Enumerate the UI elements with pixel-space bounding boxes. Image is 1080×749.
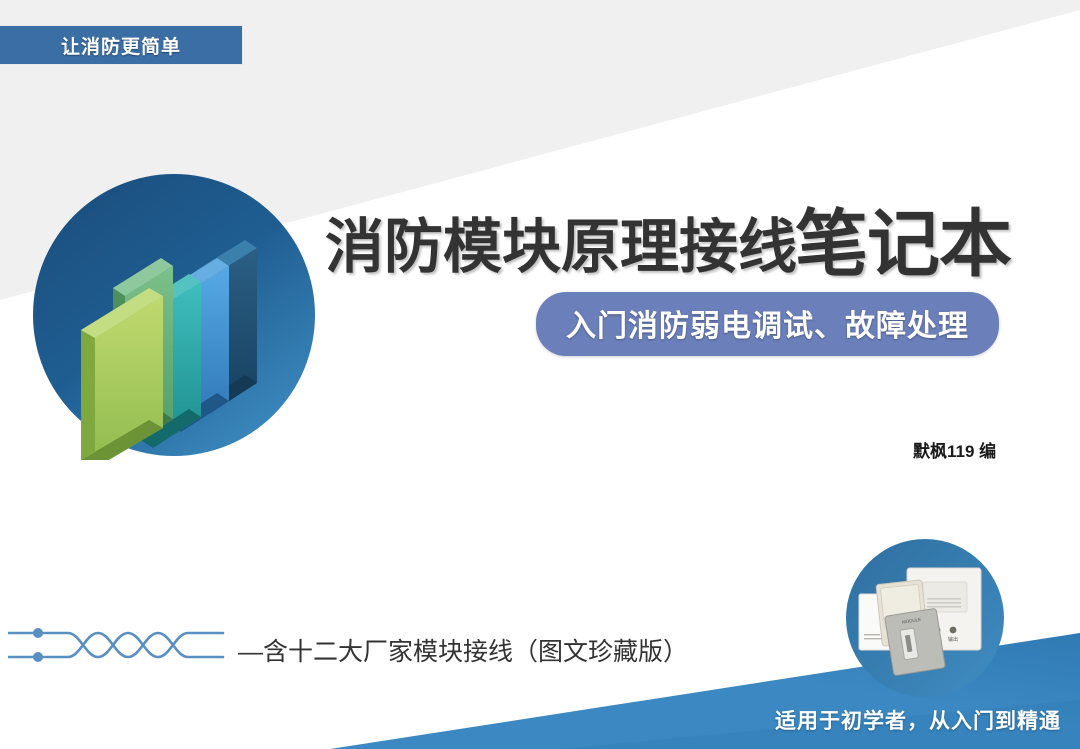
layered-panels-logo-icon	[29, 170, 319, 460]
top-banner-label: 让消防更简单	[61, 32, 181, 59]
wire-terminal-bottom	[33, 652, 43, 662]
title-main-text: 消防模块原理接线	[325, 218, 797, 277]
tagline-text: —含十二大厂家模块接线（图文珍藏版）	[238, 632, 688, 668]
wire-terminal-top	[33, 628, 43, 638]
top-banner: 让消防更简单	[0, 25, 243, 65]
svg-text:输出: 输出	[948, 636, 958, 643]
page-title: 消防模块原理接线 笔记本	[325, 206, 1025, 279]
subtitle-text: 入门消防弱电调试、故障处理	[566, 310, 969, 343]
product-photo-circle: 输入 输出 MODULE	[845, 538, 1005, 698]
fire-alarm-modules-photo: 输入 输出 MODULE	[845, 538, 1005, 698]
twisted-pair-wire-icon	[8, 624, 233, 666]
wire-svg	[8, 624, 233, 666]
logo-circle	[29, 170, 319, 460]
author-credit: 默枫119 编	[913, 437, 996, 462]
bottom-slogan: 适用于初学者，从入门到精通	[775, 705, 1061, 735]
title-block: 消防模块原理接线 笔记本 入门消防弱电调试、故障处理	[325, 206, 1025, 279]
book-cover-page: 让消防更简单	[0, 0, 1080, 749]
title-emphasis-text: 笔记本	[795, 208, 1011, 281]
subtitle-pill: 入门消防弱电调试、故障处理	[536, 292, 999, 356]
